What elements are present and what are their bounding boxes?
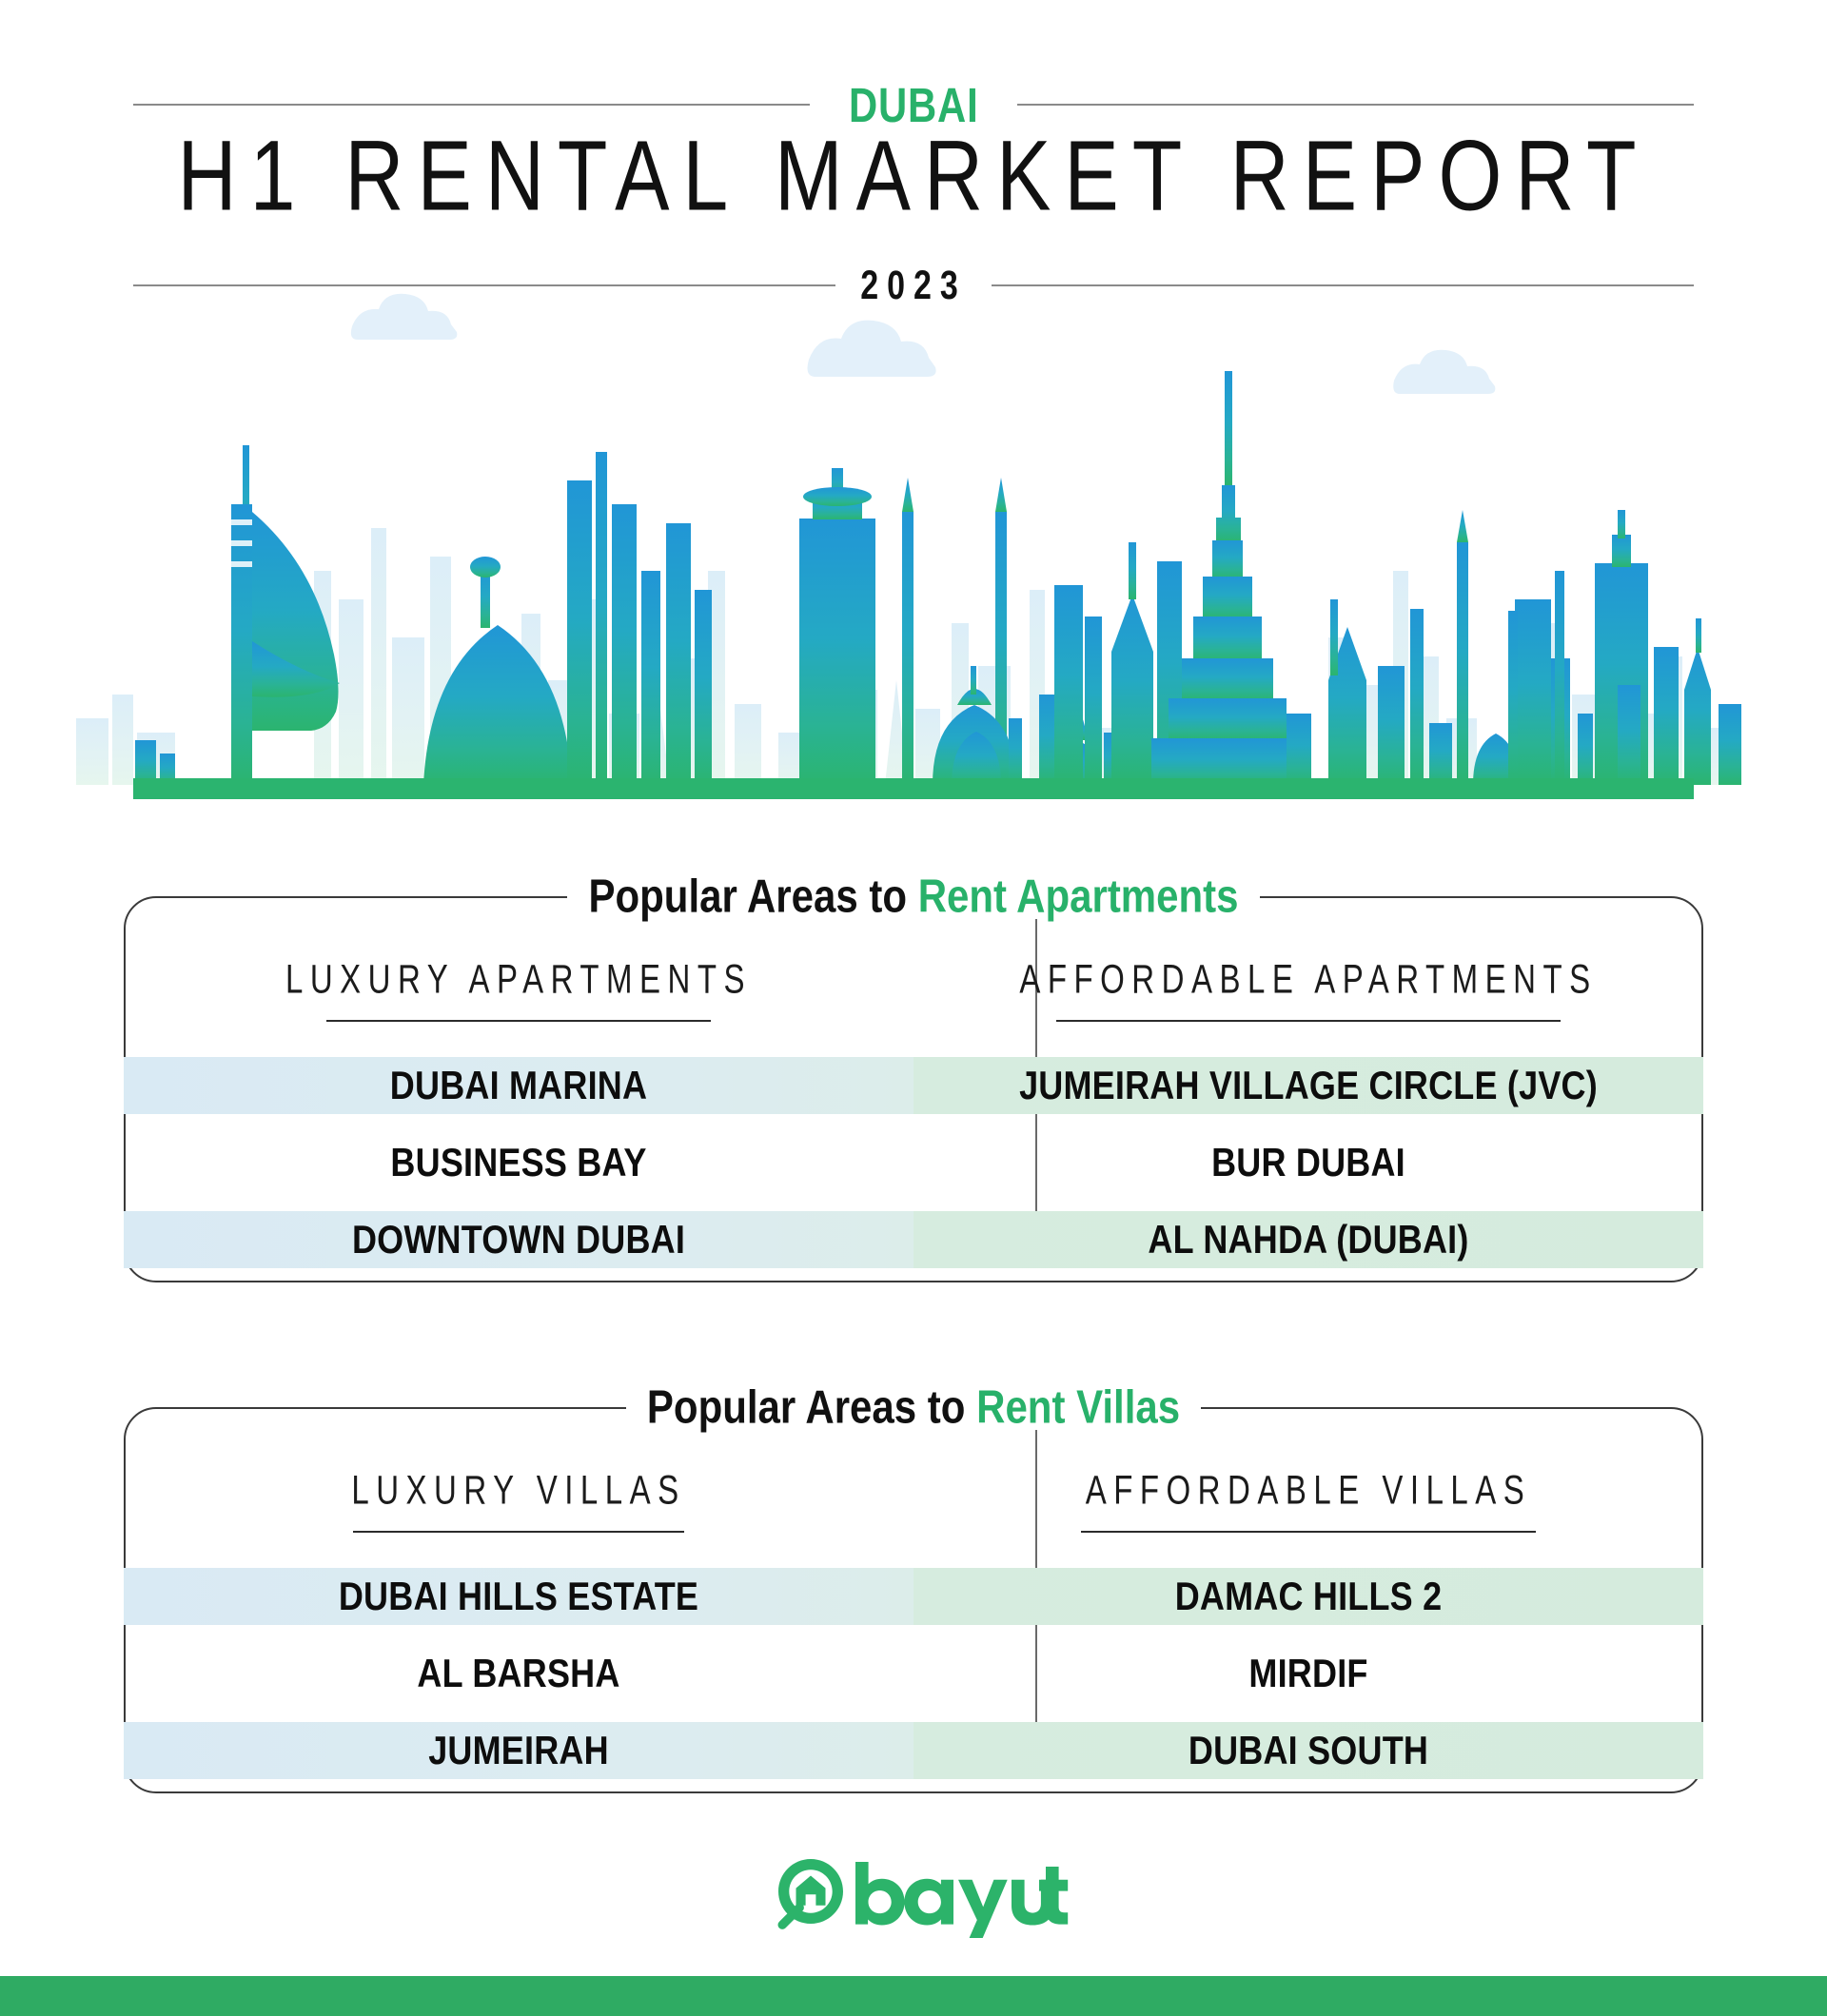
cell-value: DUBAI MARINA [124,1052,913,1119]
table-row: AL BARSHA MIRDIF [124,1645,1703,1702]
cell-value: BUSINESS BAY [124,1129,913,1196]
skyline-ground [133,778,1694,799]
column-affordable-villas: AFFORDABLE VILLAS [913,1420,1703,1540]
cell-value: AL NAHDA (DUBAI) [913,1206,1703,1273]
apartments-rows: DUBAI MARINA JUMEIRAH VILLAGE CIRCLE (JV… [124,1057,1703,1268]
cell-value: MIRDIF [913,1640,1703,1707]
cloud-group [351,294,1496,394]
column-header-underline [353,1531,684,1533]
magnifier-house-icon [778,1859,843,1929]
cell-value: AL BARSHA [124,1640,913,1707]
cell-value: JUMEIRAH [124,1717,913,1784]
cell-value: DOWNTOWN DUBAI [124,1206,913,1273]
table-row: DOWNTOWN DUBAI AL NAHDA (DUBAI) [124,1211,1703,1268]
cell-value: JUMEIRAH VILLAGE CIRCLE (JVC) [913,1052,1703,1119]
column-header-affordable-apartments: AFFORDABLE APARTMENTS [913,910,1703,1029]
footer-bar [0,1976,1827,2016]
column-luxury-apartments: LUXURY APARTMENTS [124,910,913,1029]
column-header-text: AFFORDABLE VILLAS [1086,1469,1532,1510]
header-eyebrow-row: DUBAI [133,84,1694,126]
villas-columns: LUXURY VILLAS AFFORDABLE VILLAS [124,1420,1703,1540]
header-rule-right [1017,104,1694,106]
page-title: H1 RENTAL MARKET REPORT [0,122,1827,231]
section-rent-villas: Popular Areas to Rent Villas LUXURY VILL… [124,1407,1703,1793]
column-header-luxury-apartments: LUXURY APARTMENTS [124,910,913,1029]
column-header-underline [1056,1020,1561,1022]
report-header: DUBAI H1 RENTAL MARKET REPORT 2023 [0,0,1827,314]
bayut-logo[interactable] [0,1850,1827,1945]
table-row: DUBAI HILLS ESTATE DAMAC HILLS 2 [124,1568,1703,1625]
cell-value: BUR DUBAI [913,1129,1703,1196]
column-header-text: LUXURY APARTMENTS [285,958,752,999]
table-row: JUMEIRAH DUBAI SOUTH [124,1722,1703,1779]
column-header-text: AFFORDABLE APARTMENTS [1019,958,1597,999]
infographic-page: DUBAI H1 RENTAL MARKET REPORT 2023 [0,0,1827,2016]
header-rule-left [133,104,810,106]
column-affordable-apartments: AFFORDABLE APARTMENTS [913,910,1703,1029]
section-rent-apartments: Popular Areas to Rent Apartments LUXURY … [124,896,1703,1282]
column-header-underline [326,1020,711,1022]
table-row: DUBAI MARINA JUMEIRAH VILLAGE CIRCLE (JV… [124,1057,1703,1114]
dubai-skyline-illustration [0,285,1827,804]
column-header-affordable-villas: AFFORDABLE VILLAS [913,1420,1703,1540]
table-row: BUSINESS BAY BUR DUBAI [124,1134,1703,1191]
column-header-underline [1081,1531,1536,1533]
cell-value: DUBAI HILLS ESTATE [124,1563,913,1630]
bayut-wordmark [855,1862,1071,1938]
cell-value: DAMAC HILLS 2 [913,1563,1703,1630]
column-header-text: LUXURY VILLAS [351,1469,685,1510]
cell-value: DUBAI SOUTH [913,1717,1703,1784]
apartments-columns: LUXURY APARTMENTS AFFORDABLE APARTMENTS [124,910,1703,1029]
column-header-luxury-villas: LUXURY VILLAS [124,1420,913,1540]
column-luxury-villas: LUXURY VILLAS [124,1420,913,1540]
villas-rows: DUBAI HILLS ESTATE DAMAC HILLS 2 AL BARS… [124,1568,1703,1779]
